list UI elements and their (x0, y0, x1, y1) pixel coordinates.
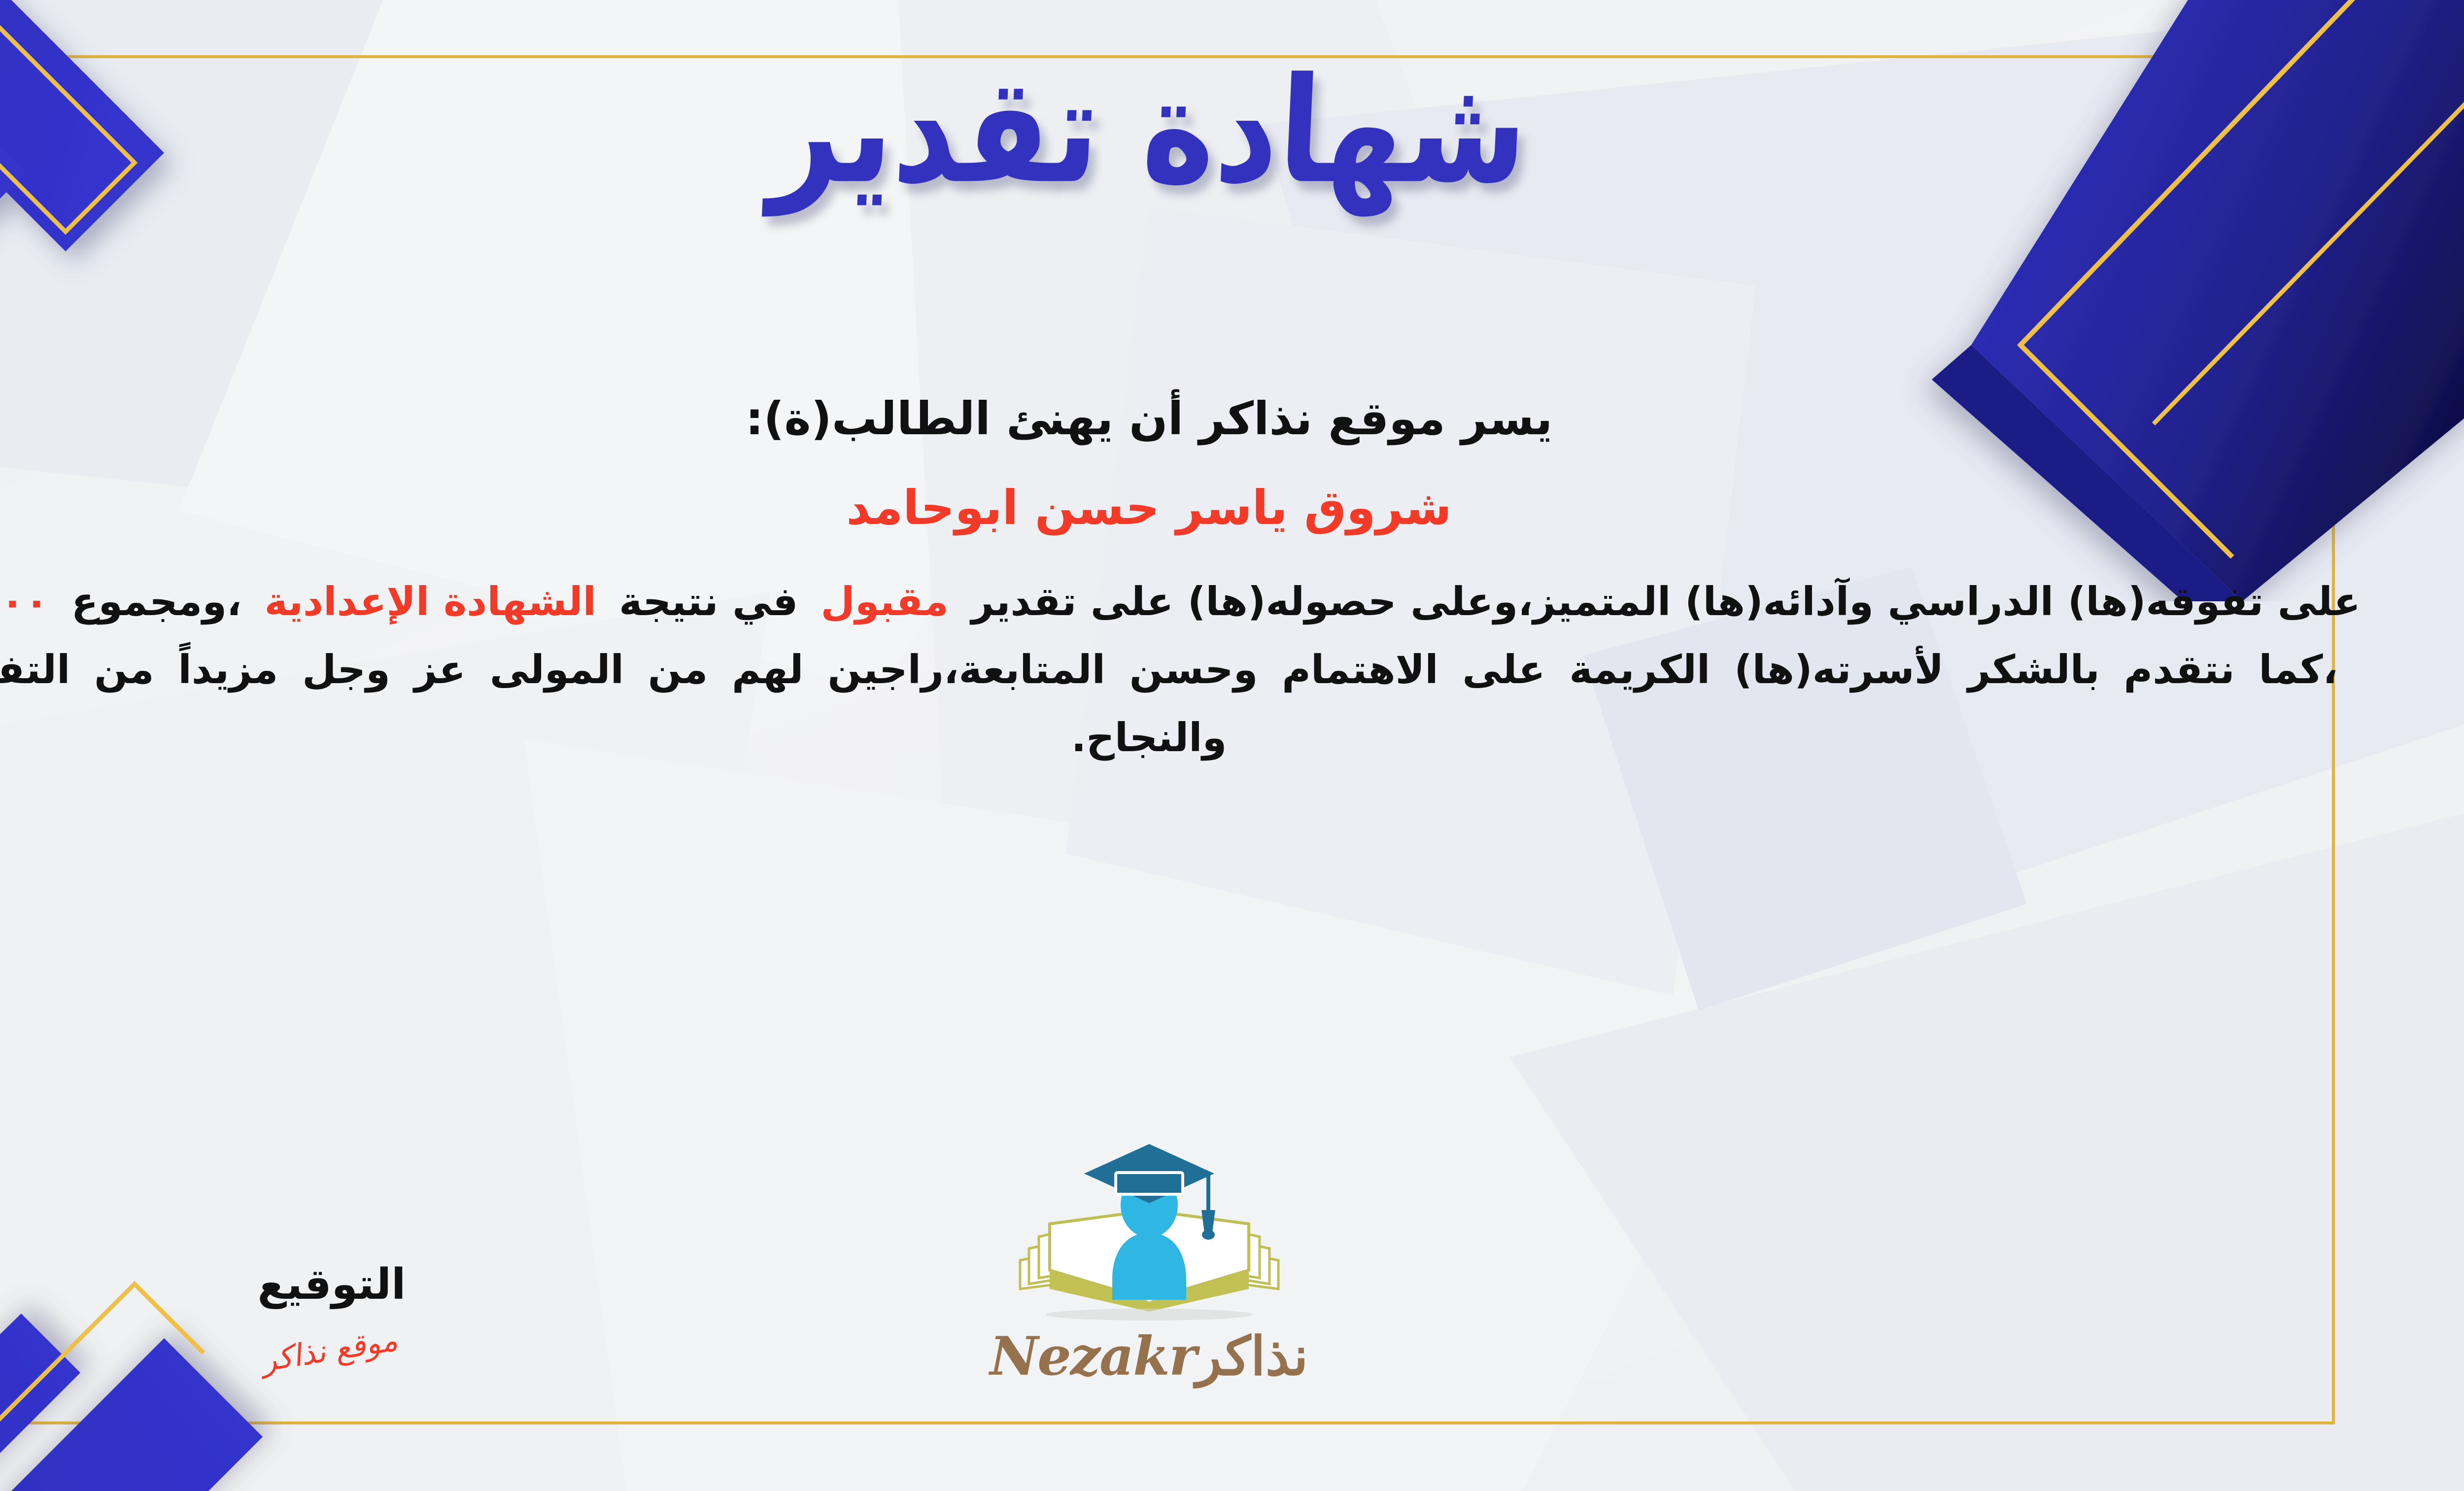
total-score: ٧٤.٠٠ (0, 579, 49, 624)
body-line-3: الكريمة على الاهتمام وحسن المتابعة،راجين… (302, 647, 1710, 693)
logo-wordmark: نذاكرNezakr (967, 1325, 1332, 1387)
body-part-3: ،ومجموع (71, 579, 242, 624)
body-paragraph: على تفوقه(ها) الدراسي وآدائه(ها) المتميز… (0, 568, 2361, 771)
signature-script: موقع نذاكر (263, 1320, 401, 1379)
logo-arabic: نذاكر (1196, 1325, 1308, 1387)
body-part-4: ،كما نتقدم بالشكر لأسرته(ها) (1734, 647, 2338, 693)
intro-line: يسر موقع نذاكر أن يهنئ الطالب(ة): (0, 389, 2361, 449)
signature-block: التوقيع موقع نذاكر (204, 1260, 460, 1368)
certificate-title: شهادة تقدير (767, 40, 1532, 222)
certificate-page: شهادة تقدير يسر موقع نذاكر أن يهنئ الطال… (0, 0, 2464, 1491)
body-part-1: على تفوقه(ها) الدراسي وآدائه(ها) المتميز… (971, 579, 2361, 624)
student-name: شروق ياسر حسن ابوحامد (0, 477, 2361, 539)
certificate-footer: التوقيع موقع نذاكر (0, 1082, 2351, 1397)
organization-logo: نذاكرNezakr (967, 1136, 1332, 1387)
body-part-2: في نتيجة (619, 579, 798, 624)
certificate-title-wrap: شهادة تقدير (0, 54, 2464, 208)
grade-value: مقبول (821, 579, 948, 624)
certificate-body: يسر موقع نذاكر أن يهنئ الطالب(ة): شروق ي… (0, 389, 2361, 771)
signature-label: التوقيع (204, 1260, 460, 1309)
logo-latin: Nezakr (990, 1325, 1196, 1387)
graduate-book-icon (1011, 1136, 1287, 1328)
exam-name: الشهادة الإعدادية (264, 579, 596, 624)
